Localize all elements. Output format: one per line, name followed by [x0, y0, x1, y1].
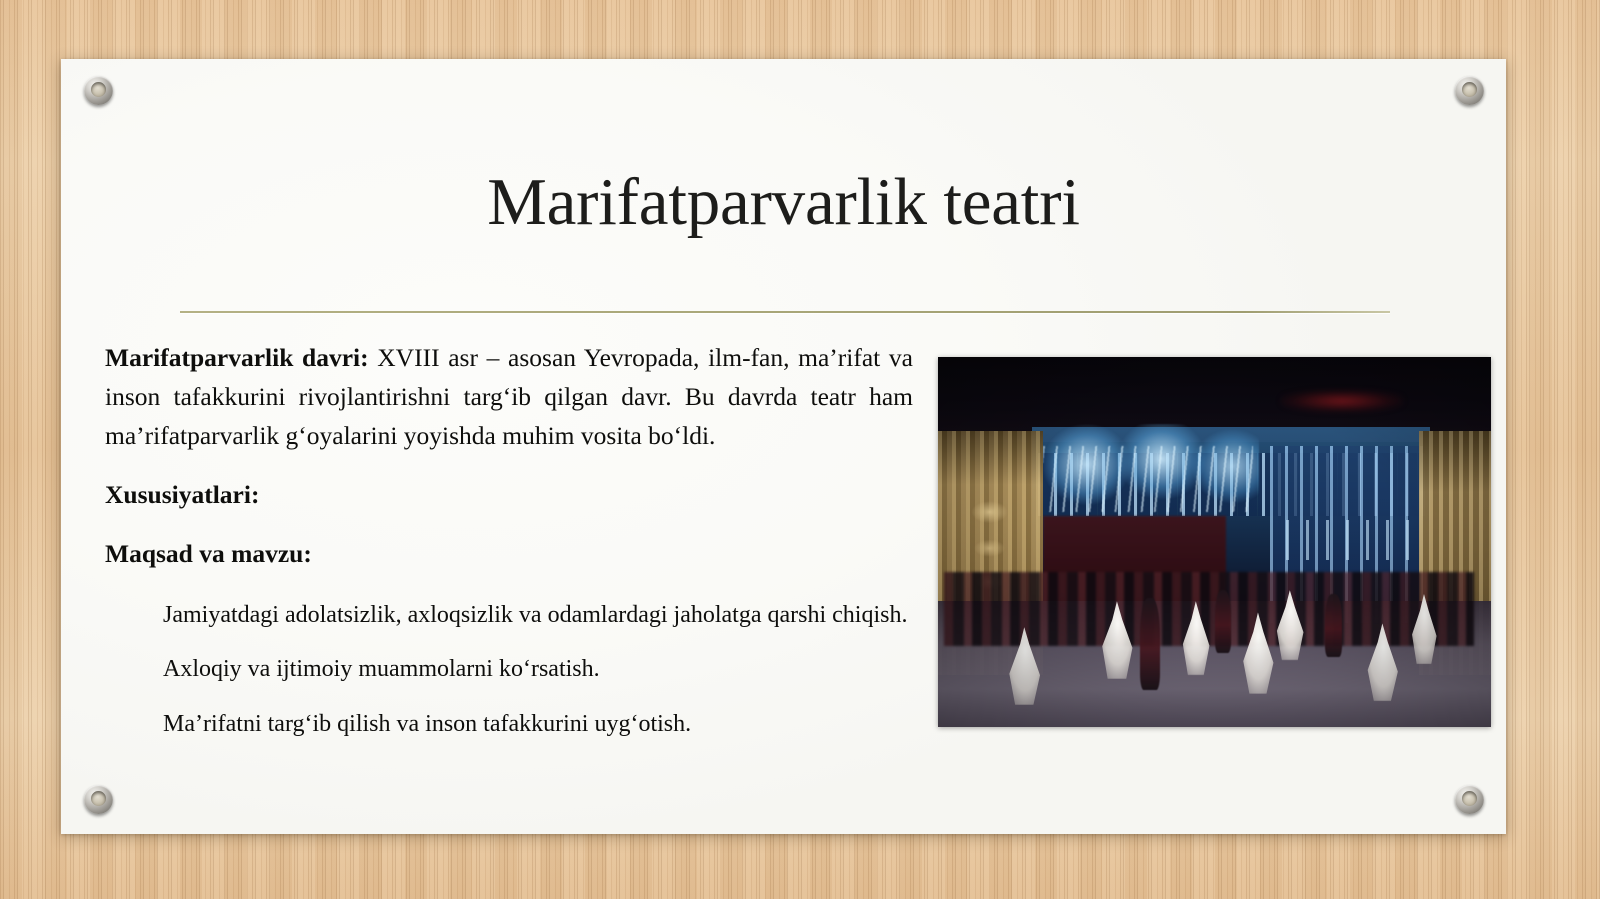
slide-text-column: Marifatparvarlik davri: XVIII asr – asos… — [105, 338, 913, 742]
section-heading-features: Xususiyatlari: — [105, 476, 913, 514]
title-divider-rule — [180, 311, 1390, 313]
section-heading-purpose: Maqsad va mavzu: — [105, 535, 913, 573]
screw-icon-bottom-right — [1455, 785, 1484, 814]
photo-vignette — [938, 357, 1491, 727]
list-item: Ma’rifatni targ‘ib qilish va inson tafak… — [163, 707, 913, 743]
screw-icon-bottom-left — [84, 785, 113, 814]
stage-photo-composition — [938, 357, 1491, 727]
screw-icon-top-right — [1455, 76, 1484, 105]
intro-paragraph: Marifatparvarlik davri: XVIII asr – asos… — [105, 338, 913, 455]
intro-paragraph-lead: Marifatparvarlik davri: — [105, 343, 369, 372]
list-item: Axloqiy va ijtimoiy muammolarni ko‘rsati… — [163, 652, 913, 688]
screw-icon-top-left — [84, 76, 113, 105]
ballet-stage-photograph — [938, 357, 1491, 727]
presentation-slide-card: Marifatparvarlik teatri Marifatparvarlik… — [61, 59, 1506, 834]
page-title: Marifatparvarlik teatri — [61, 167, 1506, 237]
list-item: Jamiyatdagi adolatsizlik, axloqsizlik va… — [163, 598, 913, 634]
